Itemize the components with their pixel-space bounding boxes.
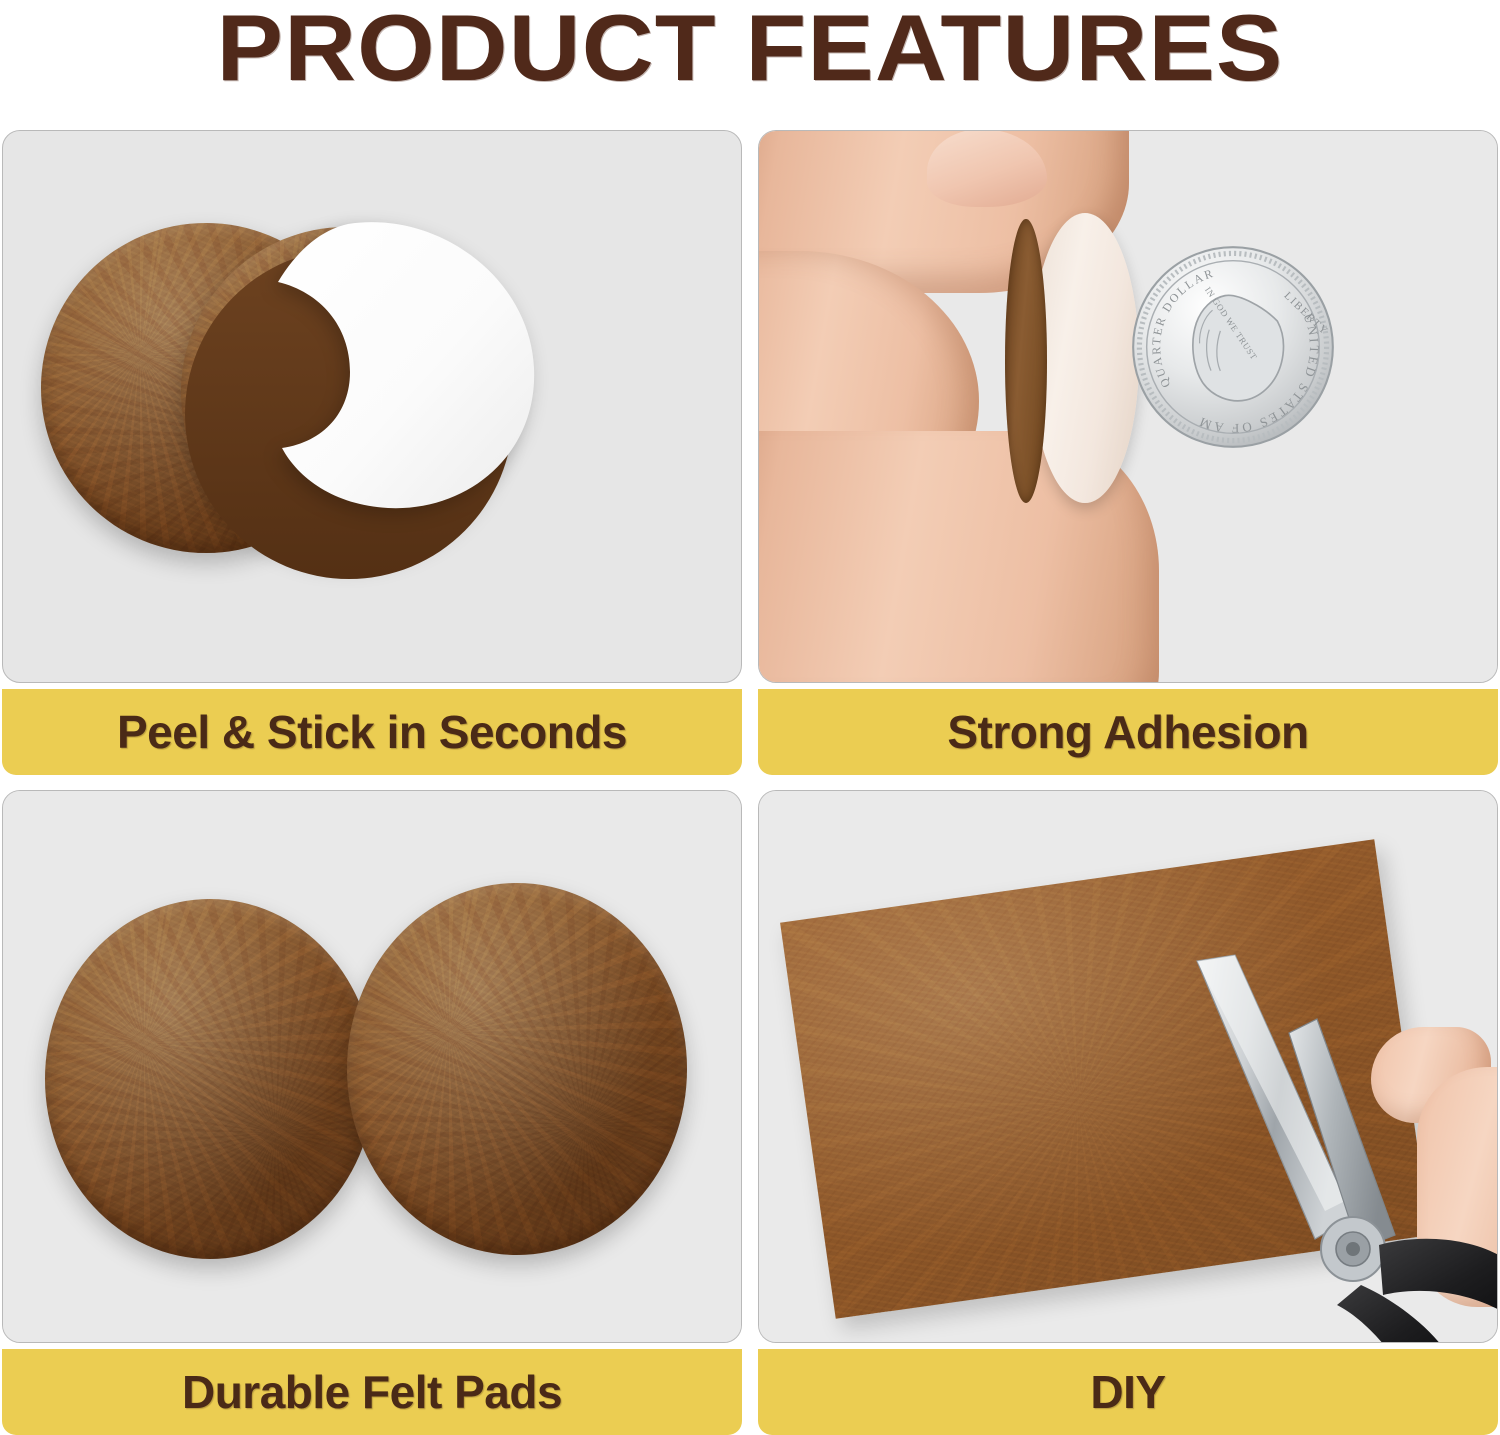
us-quarter-coin: UNITED STATES OF AMERICA QUARTER DOLLAR xyxy=(1129,243,1337,451)
felt-pads-with-liner-illustration xyxy=(3,131,741,682)
feature-card-peel-and-stick[interactable]: Peel & Stick in Seconds xyxy=(2,130,742,775)
feature-card-durable-felt-pads[interactable]: Durable Felt Pads xyxy=(2,790,742,1435)
felt-rim-shading xyxy=(45,899,375,1259)
caption-bar-diy: DIY xyxy=(758,1349,1498,1435)
hand-holding-pad-with-coin-illustration: UNITED STATES OF AMERICA QUARTER DOLLAR xyxy=(759,131,1497,682)
photo-strong-adhesion: UNITED STATES OF AMERICA QUARTER DOLLAR xyxy=(758,130,1498,683)
brown-felt-disc-right xyxy=(347,883,687,1255)
felt-pad-held-edge-on xyxy=(999,213,1129,503)
caption-label: Durable Felt Pads xyxy=(182,1365,562,1419)
brown-felt-disc-left xyxy=(45,899,375,1259)
cutting-felt-sheet-illustration xyxy=(759,791,1497,1342)
caption-bar-durable-felt-pads: Durable Felt Pads xyxy=(2,1349,742,1435)
feature-card-strong-adhesion[interactable]: UNITED STATES OF AMERICA QUARTER DOLLAR xyxy=(758,130,1498,775)
felt-pad-thickness-edge xyxy=(1005,219,1047,503)
feature-card-grid: Peel & Stick in Seconds xyxy=(0,100,1500,1431)
felt-rim-shading xyxy=(347,883,687,1255)
fingernail xyxy=(927,130,1047,207)
photo-durable-felt-pads xyxy=(2,790,742,1343)
felt-pad-adhesive-face xyxy=(1031,213,1139,503)
photo-peel-and-stick xyxy=(2,130,742,683)
product-features-infographic: PRODUCT FEATURES xyxy=(0,0,1500,1431)
caption-label: Peel & Stick in Seconds xyxy=(117,705,627,759)
caption-label: Strong Adhesion xyxy=(947,705,1308,759)
white-release-liner xyxy=(238,216,538,516)
page-title: PRODUCT FEATURES xyxy=(0,0,1500,96)
photo-diy xyxy=(758,790,1498,1343)
caption-bar-peel-and-stick: Peel & Stick in Seconds xyxy=(2,689,742,775)
feature-card-diy[interactable]: DIY xyxy=(758,790,1498,1435)
caption-label: DIY xyxy=(1090,1365,1165,1419)
scissors-handle-lower xyxy=(1337,1285,1457,1343)
caption-bar-strong-adhesion: Strong Adhesion xyxy=(758,689,1498,775)
scissors-icon xyxy=(1139,949,1498,1343)
two-felt-pads-illustration xyxy=(3,791,741,1342)
